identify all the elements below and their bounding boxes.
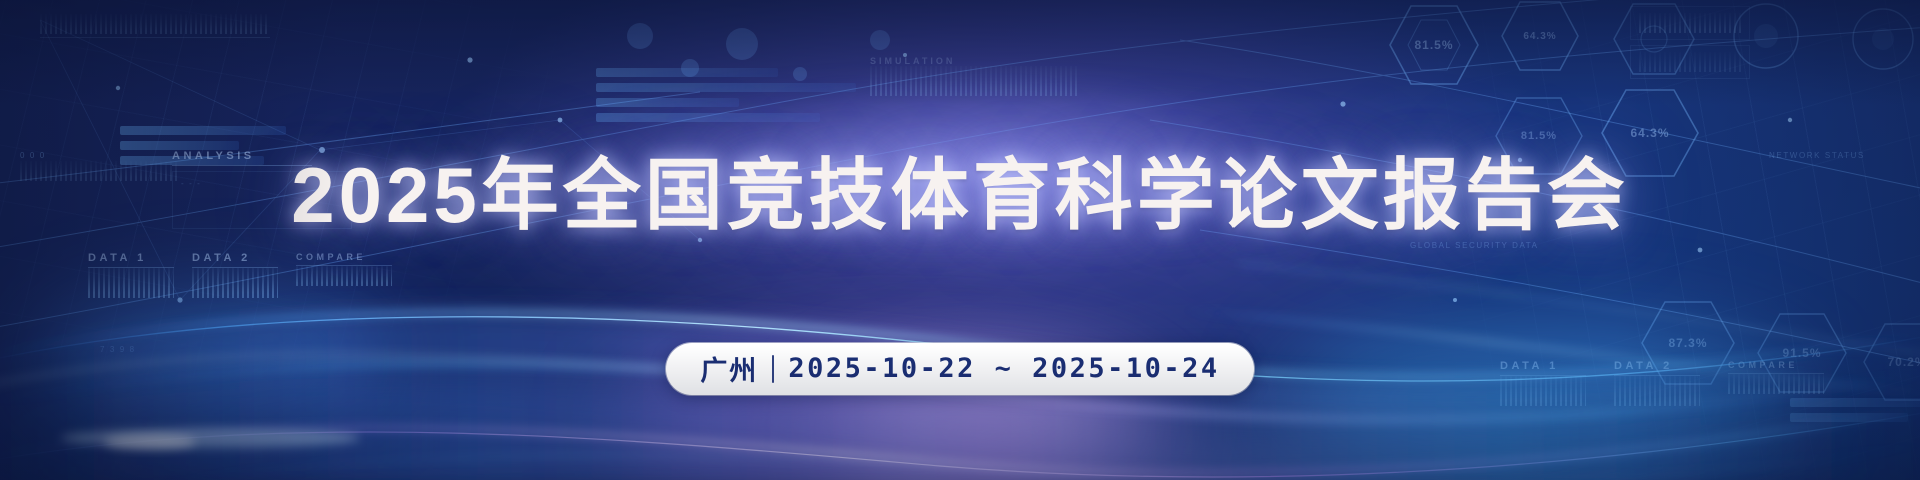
pill-separator-icon [772,355,774,383]
banner-content: 2025年全国竞技体育科学论文报告会 广州 2025-10-22 ~ 2025-… [0,0,1920,480]
event-date-range: 2025-10-22 ~ 2025-10-24 [788,353,1219,384]
event-city: 广州 [700,349,758,388]
conference-banner: 0 0 0 ANALYSIS - - - SIMULATION DATA 1 D… [0,0,1920,480]
subtitle-pill: 广州 2025-10-22 ~ 2025-10-24 [666,343,1253,395]
page-title: 2025年全国竞技体育科学论文报告会 [291,156,1629,234]
